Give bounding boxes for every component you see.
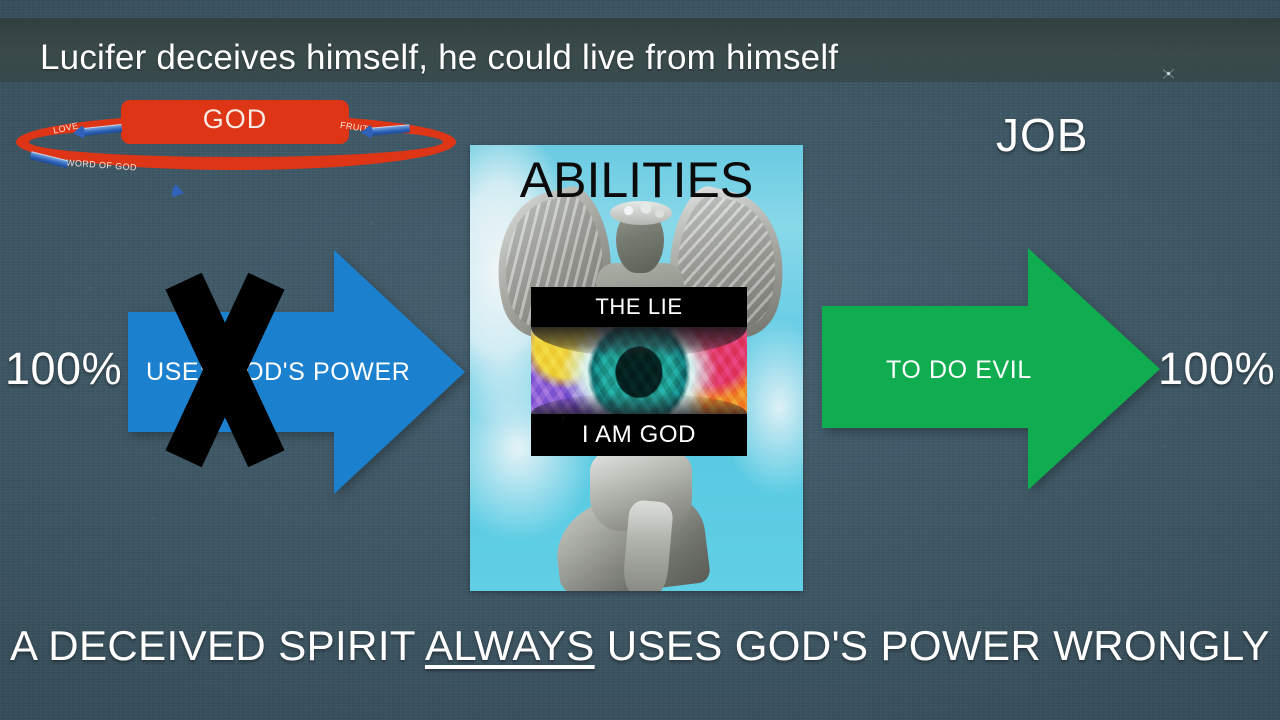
- cross-out-x-icon: [152, 272, 297, 468]
- right-percent-label: 100%: [1158, 343, 1275, 395]
- left-percent-label: 100%: [5, 343, 122, 395]
- job-label: JOB: [996, 108, 1088, 162]
- green-arrow-label: TO DO EVIL: [886, 356, 1032, 385]
- bottom-caption: A DECEIVED SPIRIT ALWAYS USES GOD'S POWE…: [0, 622, 1280, 670]
- caption-part-before: A DECEIVED SPIRIT: [10, 622, 425, 669]
- caption-emphasis-always: ALWAYS: [425, 622, 595, 669]
- abilities-heading: ABILITIES: [470, 151, 803, 209]
- angel-statue-picture: ABILITIES THE LIE I AM GOD: [470, 145, 803, 591]
- god-label-text: GOD: [121, 104, 349, 135]
- dust-speck-icon: [1163, 68, 1174, 79]
- caption-part-after: USES GOD'S POWER WRONGLY: [595, 622, 1270, 669]
- green-arrow-to-do-evil: TO DO EVIL: [822, 248, 1162, 490]
- page-title: Lucifer deceives himself, he could live …: [40, 38, 838, 78]
- green-arrow-tip: [1028, 248, 1160, 490]
- title-band: Lucifer deceives himself, he could live …: [0, 18, 1280, 82]
- banner-the-lie: THE LIE: [531, 287, 747, 327]
- slide-canvas: Lucifer deceives himself, he could live …: [0, 0, 1280, 720]
- banner-i-am-god: I AM GOD: [531, 414, 747, 456]
- god-label-box: GOD: [121, 100, 349, 144]
